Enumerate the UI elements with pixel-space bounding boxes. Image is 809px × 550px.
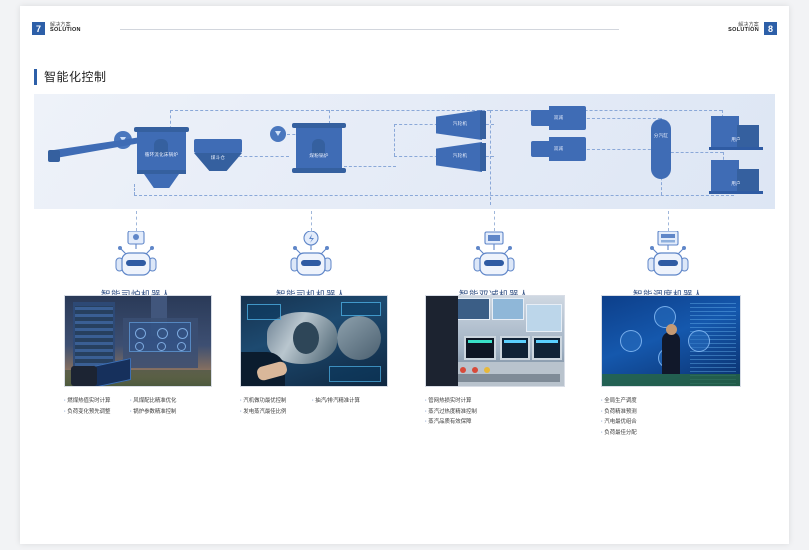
node-reducer-1: 双减 bbox=[531, 106, 586, 130]
robot-card-4: 智能调度机器人 bbox=[608, 211, 728, 301]
flow-line-pcout bbox=[344, 166, 396, 167]
node-pc-boiler: 煤粉锅炉 bbox=[292, 123, 346, 173]
header-left-brand: 7 解决方案 SOLUTION bbox=[32, 22, 81, 35]
robot-card-1: 智能司炉机器人 bbox=[76, 211, 196, 301]
title-accent-bar bbox=[34, 69, 37, 85]
bullet-item: 全局生产调度 bbox=[601, 396, 741, 407]
robot-stem-2 bbox=[311, 211, 312, 231]
bullet-list-2: 汽机做功最优控制 发电蒸汽最佳比例 抽汽/排汽精准计算 bbox=[240, 396, 388, 417]
robot-stem-1 bbox=[136, 211, 137, 231]
bullet-item: 锅炉参数精准控制 bbox=[130, 407, 196, 418]
robot-dispatch-icon bbox=[640, 231, 696, 277]
flow-line-split bbox=[394, 124, 395, 156]
process-flow-diagram: 循环流化床锅炉 煤斗仓 煤粉锅炉 汽轮机 汽轮机 bbox=[34, 94, 775, 209]
bullet-item: 抽汽/排汽精准计算 bbox=[312, 396, 384, 407]
bullet-list-1: 燃煤热值实时计算 负荷变化预先调整 风煤配比精准优化 锅炉参数精准控制 bbox=[64, 396, 212, 417]
turbine-hmi-photo bbox=[240, 295, 388, 387]
header-right-badge: 8 bbox=[764, 22, 777, 35]
node-turbine-1: 汽轮机 bbox=[436, 110, 492, 140]
bullet-item: 汽机做功最优控制 bbox=[240, 396, 312, 407]
bullet-item: 负荷最佳分配 bbox=[601, 428, 741, 439]
robot-boiler-icon bbox=[108, 231, 164, 277]
bullet-item: 蒸汽品质有效保障 bbox=[425, 417, 565, 428]
node-turbine-2: 汽轮机 bbox=[436, 142, 492, 172]
bullet-item: 管网热损实时计算 bbox=[425, 396, 565, 407]
bullet-item: 负荷变化预先调整 bbox=[64, 407, 130, 418]
content-card-2: 汽机做功最优控制 发电蒸汽最佳比例 抽汽/排汽精准计算 bbox=[240, 295, 388, 417]
content-card-3: 管网热损实时计算 蒸汽过热度精准控制 蒸汽品质有效保障 bbox=[425, 295, 565, 428]
bullet-item: 风煤配比精准优化 bbox=[130, 396, 196, 407]
bullet-item: 燃煤热值实时计算 bbox=[64, 396, 130, 407]
robot-card-3: 智能双减机器人 bbox=[434, 211, 554, 301]
node-coal-bunker: 煤斗仓 bbox=[194, 139, 242, 175]
page-title: 智能化控制 bbox=[34, 68, 107, 85]
control-room-photo bbox=[425, 295, 565, 387]
bullet-item: 蒸汽过热度精准控制 bbox=[425, 407, 565, 418]
node-steam-header: 分汽缸 bbox=[651, 119, 671, 179]
slide-header: 7 解决方案 SOLUTION 解决方案 SOLUTION 8 bbox=[20, 6, 789, 50]
robot-row: 智能司炉机器人 智能司机机器人 bbox=[20, 211, 789, 281]
node-user-2: 用户 bbox=[711, 160, 761, 194]
bullet-item: 负荷精准预测 bbox=[601, 407, 741, 418]
flow-line-top2 bbox=[490, 110, 722, 111]
bullet-list-3: 管网热损实时计算 蒸汽过热度精准控制 蒸汽品质有效保障 bbox=[425, 396, 565, 428]
bullet-list-4: 全局生产调度 负荷精准预测 汽电最优组合 负荷最佳分配 bbox=[601, 396, 741, 438]
header-right-en: SOLUTION bbox=[728, 28, 759, 34]
flow-line-return bbox=[134, 195, 734, 196]
node-reducer-2: 双减 bbox=[531, 137, 586, 161]
bullet-item: 发电蒸汽最佳比例 bbox=[240, 407, 312, 418]
header-left-badge: 7 bbox=[32, 22, 45, 35]
content-card-4: 全局生产调度 负荷精准预测 汽电最优组合 负荷最佳分配 bbox=[601, 295, 741, 438]
node-label-steam-header: 分汽缸 bbox=[651, 133, 671, 139]
header-divider bbox=[120, 29, 619, 30]
robot-card-2: 智能司机机器人 bbox=[251, 211, 371, 301]
node-user-1: 用户 bbox=[711, 116, 761, 150]
power-plant-tablet-photo bbox=[64, 295, 212, 387]
content-card-1: 燃煤热值实时计算 负荷变化预先调整 风煤配比精准优化 锅炉参数精准控制 bbox=[64, 295, 212, 417]
slide: 7 解决方案 SOLUTION 解决方案 SOLUTION 8 智能化控制 bbox=[20, 6, 789, 544]
header-left-en: SOLUTION bbox=[50, 28, 81, 34]
page-title-label: 智能化控制 bbox=[44, 68, 107, 85]
bullet-item: 汽电最优组合 bbox=[601, 417, 741, 428]
node-cfb-boiler: 循环流化床锅炉 bbox=[134, 127, 189, 187]
robot-reducer-icon bbox=[466, 231, 522, 277]
robot-stem-3 bbox=[494, 211, 495, 231]
header-right-brand: 解决方案 SOLUTION 8 bbox=[728, 22, 777, 35]
robot-driver-icon bbox=[283, 231, 339, 277]
dispatcher-hud-photo bbox=[601, 295, 741, 387]
flow-line-bunker bbox=[239, 156, 289, 157]
sensor-icon-pc bbox=[269, 125, 287, 143]
robot-stem-4 bbox=[668, 211, 669, 231]
